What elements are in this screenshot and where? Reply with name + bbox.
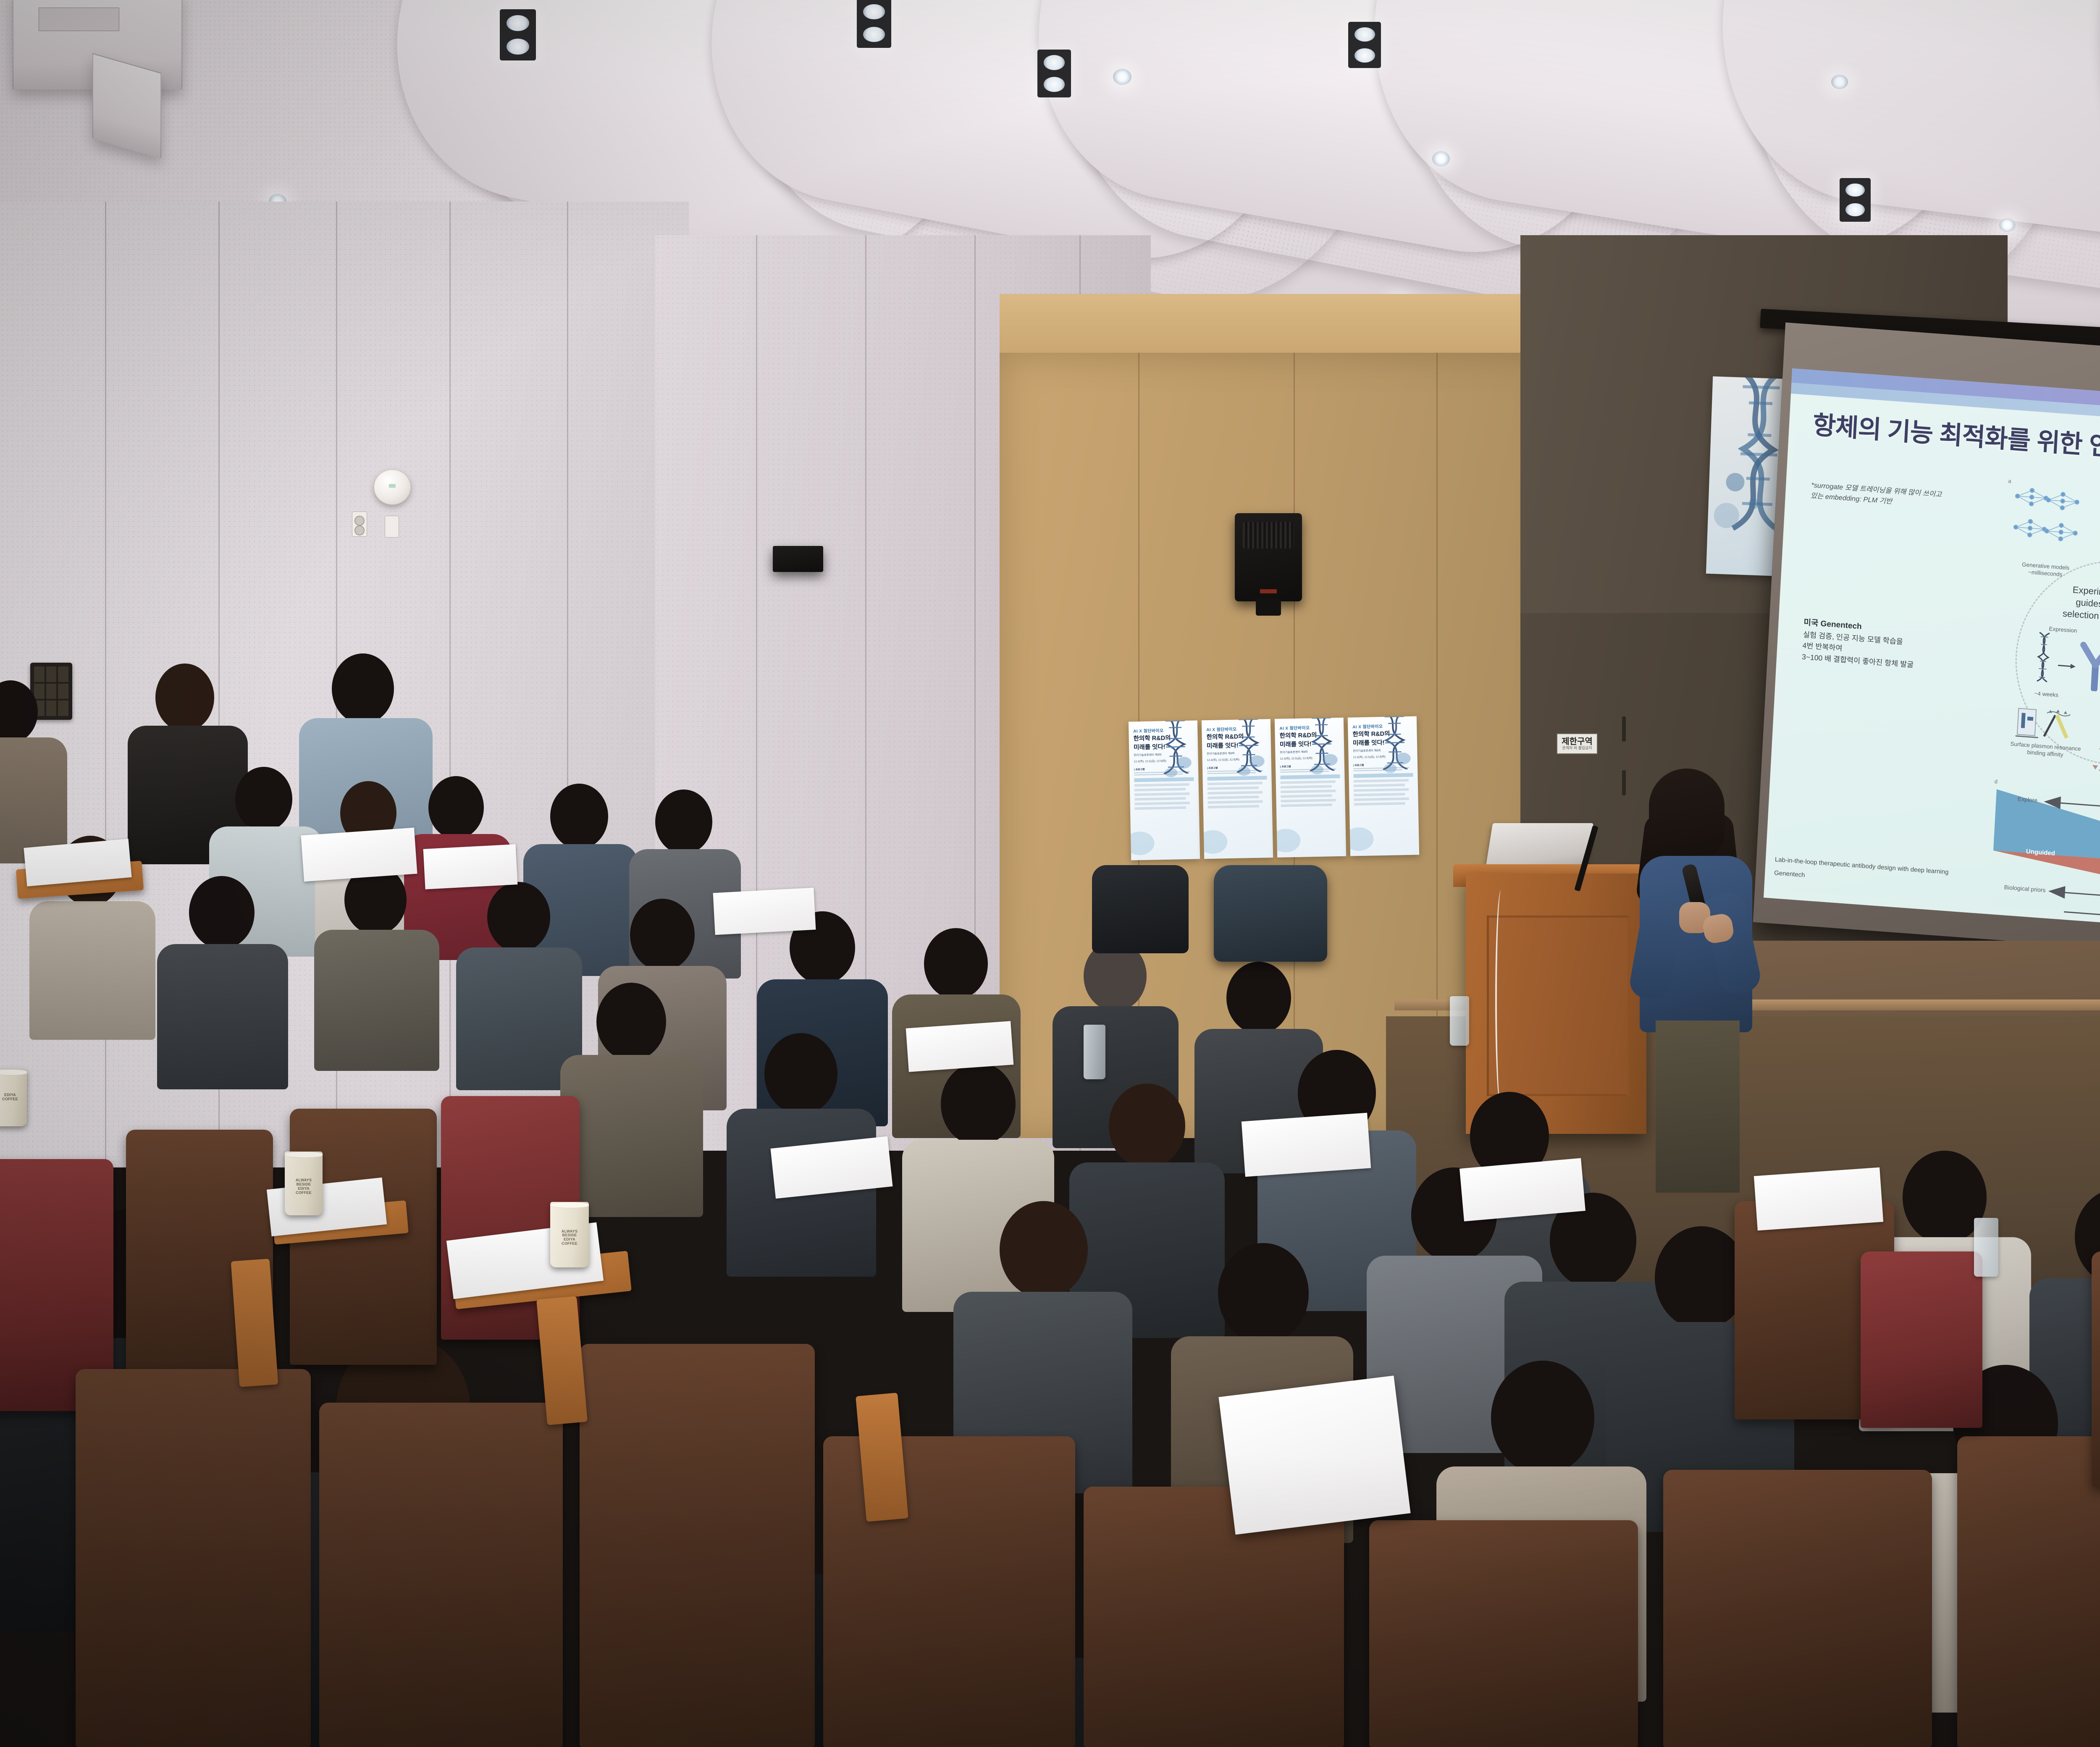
cup-brand-1: ALWAYS <box>562 1229 577 1233</box>
cup-brand-1: ALWAYS <box>296 1178 312 1182</box>
box-downlight-5 <box>1840 178 1871 222</box>
downlight-10 <box>1999 218 2015 232</box>
coffee-cup[interactable]: ALWAYS BESIDE EDIYA COFFEE <box>550 1202 589 1267</box>
podium-front-panel <box>1487 915 1630 1096</box>
box-downlight-3 <box>1037 50 1071 97</box>
seat-back[interactable] <box>319 1403 563 1747</box>
coffee-cup[interactable]: EDIYA COFFEE <box>0 1069 27 1126</box>
dna-helix-icon <box>1228 719 1273 773</box>
dna-helix-icon <box>1301 718 1347 771</box>
cup-brand-4: EDIYA <box>564 1237 575 1241</box>
restricted-area-sign: 제한구역 관계자 외 출입금지 <box>1557 733 1598 754</box>
poster-group: AI X 첨단바이오 한의학 R&D의 미래를 잇다! 한의기술표준센터 제8회… <box>1129 716 1419 860</box>
slide-title: 항체의 기능 최적화를 위한 인공지능 <box>1812 404 2100 468</box>
handout-paper <box>301 828 417 882</box>
spr-instrument-icon <box>2014 703 2079 745</box>
seat-back[interactable] <box>823 1436 1075 1747</box>
downlight-6 <box>1432 151 1450 166</box>
backpack <box>1214 865 1327 962</box>
handout-paper <box>1459 1158 1585 1222</box>
cup-brand-5: COFFEE <box>296 1191 312 1195</box>
water-bottle <box>1450 996 1469 1046</box>
seat-back[interactable] <box>580 1344 815 1747</box>
water-bottle <box>1974 1218 1998 1277</box>
seat-back[interactable] <box>2092 1251 2100 1487</box>
wall-speaker <box>1235 513 1302 601</box>
cup-brand-4: EDIYA <box>4 1093 16 1097</box>
event-poster: AI X 첨단바이오 한의학 R&D의 미래를 잇다! 한의기술표준센터 제8회… <box>1348 716 1419 856</box>
box-downlight-2 <box>857 0 891 48</box>
power-outlet[interactable] <box>352 512 367 537</box>
wall-vent-grille <box>773 546 823 572</box>
antibody-dashed-arc-red <box>2088 755 2100 785</box>
projection-screen: 항체의 기능 최적화를 위한 인공지능 *surrogate 모델 트레이닝을 … <box>1753 323 2100 984</box>
water-bottle <box>1084 1025 1105 1079</box>
cup-brand-2: BESIDE <box>562 1233 577 1237</box>
arrow-right-icon <box>2057 661 2076 671</box>
panel-letter-d: d <box>1994 778 1998 785</box>
door-sign-text: 제한구역 <box>1562 737 1593 746</box>
box-downlight-4 <box>1348 22 1381 68</box>
neural-network-icon <box>2009 485 2097 558</box>
bag <box>1092 865 1189 953</box>
handout-paper <box>713 888 816 935</box>
seat-back[interactable] <box>1957 1436 2100 1747</box>
dna-strand-icon <box>2026 630 2059 691</box>
presenter-legs <box>1656 1020 1740 1193</box>
door-sign-subtext: 관계자 외 출입금지 <box>1562 746 1592 750</box>
dna-helix-icon <box>1374 716 1420 770</box>
wall-wood-header <box>1000 294 1554 357</box>
biological-priors-arrowhead <box>2048 884 2067 900</box>
antibody-large-icon <box>2076 640 2100 693</box>
door-hinge-bottom <box>1622 770 1626 795</box>
presentation-slide: 항체의 기능 최적화를 위한 인공지능 *surrogate 모델 트레이닝을 … <box>1764 368 2100 957</box>
coffee-cup[interactable]: ALWAYS BESIDE EDIYA COFFEE <box>285 1152 323 1215</box>
box-downlight-1 <box>500 9 536 60</box>
presenter <box>1634 769 1760 1193</box>
cup-brand-5: COFFEE <box>562 1241 577 1246</box>
event-poster: AI X 첨단바이오 한의학 R&D의 미래를 잇다! 한의기술표준센터 제8회… <box>1129 720 1200 860</box>
auditorium-photo: 제한구역 관계자 외 출입금지 AI X 첨단바이오 한의학 R&D의 미래를 … <box>0 0 2100 1747</box>
cup-brand-2: BESIDE <box>297 1182 311 1186</box>
downlight-9 <box>1831 75 1848 89</box>
slide-note-surrogate: *surrogate 모델 트레이닝을 위해 많이 쓰이고 있는 embeddi… <box>1810 480 1950 511</box>
genentech-line-2: 4번 반복하여 <box>1802 641 1843 653</box>
seat-back[interactable] <box>76 1369 311 1747</box>
cup-brand-5: COFFEE <box>2 1097 18 1101</box>
presenter-hair-top <box>1649 769 1725 859</box>
event-poster: AI X 첨단바이오 한의학 R&D의 미래를 잇다! 한의기술표준센터 제8회… <box>1275 718 1346 858</box>
genentech-heading: 미국 Genentech <box>1803 618 1862 631</box>
wiring-plate <box>385 516 399 538</box>
cup-brand-4: EDIYA <box>298 1186 310 1191</box>
panel-letter-a: a <box>2008 478 2011 485</box>
door-hinge-top <box>1622 716 1626 742</box>
label-generative-models: Generative models ~milliseconds <box>2003 560 2088 580</box>
downlight-2 <box>1113 69 1131 85</box>
laptop-cable <box>1495 890 1507 1109</box>
handout-paper <box>1754 1167 1883 1231</box>
handout-paper <box>1242 1113 1371 1177</box>
event-poster: AI X 첨단바이오 한의학 R&D의 미래를 잇다! 한의기술표준센터 제8회… <box>1202 719 1273 859</box>
slide-note-genentech: 미국 Genentech 실험 검증, 인공 지능 모델 학습을 4번 반복하여… <box>1801 617 1967 674</box>
fire-alarm-bell-icon <box>374 470 411 505</box>
seat-back[interactable] <box>1663 1470 1932 1747</box>
handout-paper <box>423 844 518 889</box>
genentech-line-3: 3~100 배 결합력이 좋아진 항체 발굴 <box>1802 653 1914 669</box>
program-handout <box>1218 1376 1410 1535</box>
slide-citation-org: Genentech <box>1774 869 1805 879</box>
seat-back[interactable] <box>1861 1251 1982 1428</box>
handout-paper <box>906 1021 1014 1072</box>
seat-back[interactable] <box>1369 1520 1638 1747</box>
dna-helix-icon <box>1155 720 1200 774</box>
